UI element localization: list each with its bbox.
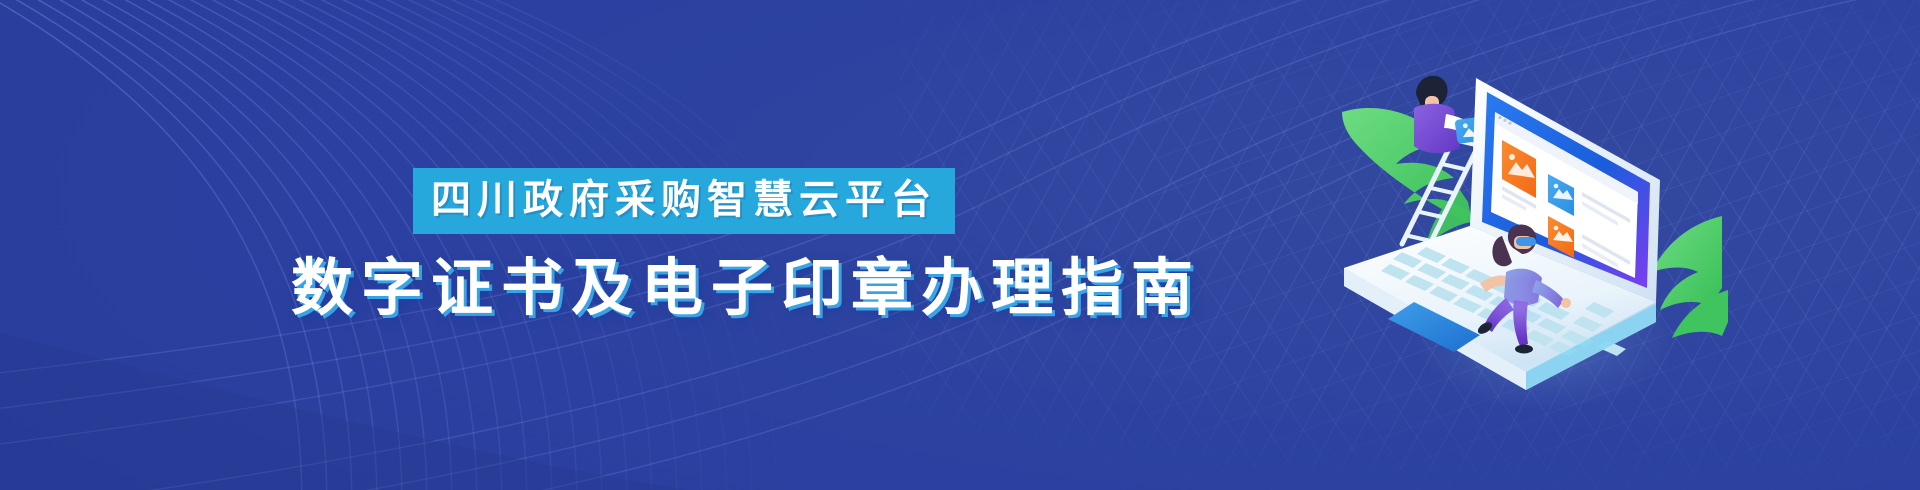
promo-banner: 四川政府采购智慧云平台 数字证书及电子印章办理指南 bbox=[0, 0, 1920, 490]
platform-badge-label: 四川政府采购智慧云平台 bbox=[431, 176, 937, 224]
banner-text-block: 四川政府采购智慧云平台 数字证书及电子印章办理指南 bbox=[413, 168, 1143, 324]
platform-badge: 四川政府采购智慧云平台 bbox=[413, 168, 955, 234]
page-title: 数字证书及电子印章办理指南 bbox=[291, 252, 1143, 324]
isometric-laptop-teamwork-illustration bbox=[1330, 40, 1730, 440]
